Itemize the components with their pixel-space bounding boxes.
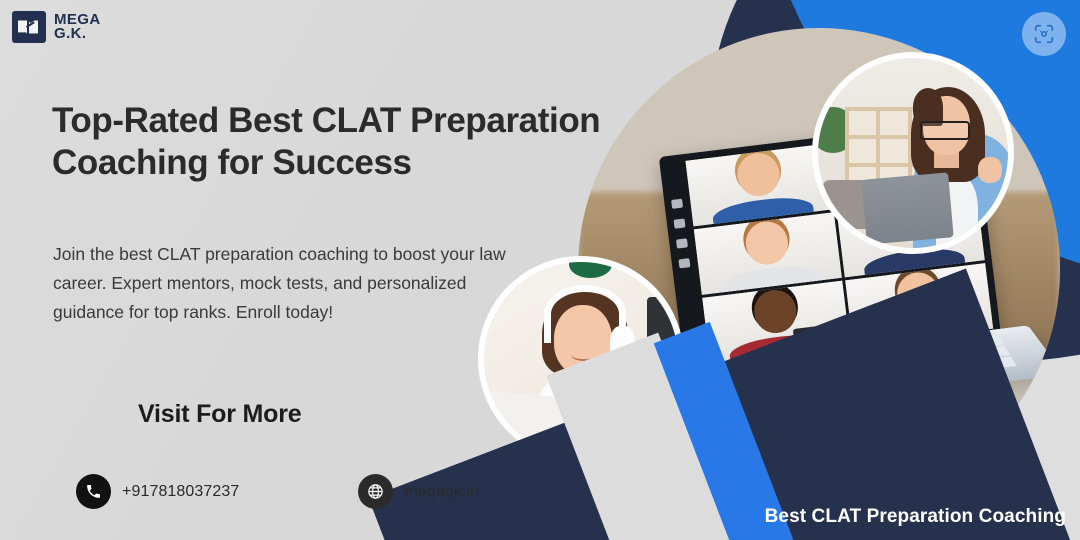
eyeglasses [920, 121, 970, 140]
caption-text: Best CLAT Preparation Coaching [765, 506, 1066, 528]
phone-icon [76, 474, 111, 509]
camera-icon [676, 238, 688, 248]
green-chair [569, 256, 612, 278]
camera-focus-icon [1033, 23, 1055, 45]
contact-phone[interactable]: +917818037237 [76, 474, 239, 509]
microphone-icon [674, 218, 686, 228]
promotional-banner: 09:23 [0, 0, 1080, 540]
contact-website[interactable]: megagk.in [358, 474, 479, 509]
globe-icon [358, 474, 393, 509]
office-scene [818, 58, 1008, 248]
screen-share-icon [678, 258, 690, 268]
page-title: Top-Rated Best CLAT Preparation Coaching… [52, 100, 622, 184]
speaker-icon [671, 199, 683, 209]
book-gavel-icon [12, 11, 46, 43]
logo-line-2: G.K. [54, 27, 101, 41]
logo-text: MEGA G.K. [54, 13, 101, 41]
website-url: megagk.in [404, 483, 479, 501]
description-text: Join the best CLAT preparation coaching … [53, 240, 508, 327]
brand-logo[interactable]: MEGA G.K. [12, 11, 101, 43]
laptop-on-lap [861, 172, 954, 244]
book-gavel-glyph [16, 15, 42, 39]
woman-with-laptop-photo [812, 52, 1014, 254]
contact-row: +917818037237 megagk.in [76, 474, 479, 509]
cta-text: Visit For More [138, 400, 301, 429]
phone-number: +917818037237 [122, 483, 239, 501]
waving-hand [978, 157, 1003, 184]
camera-badge[interactable] [1022, 12, 1066, 56]
